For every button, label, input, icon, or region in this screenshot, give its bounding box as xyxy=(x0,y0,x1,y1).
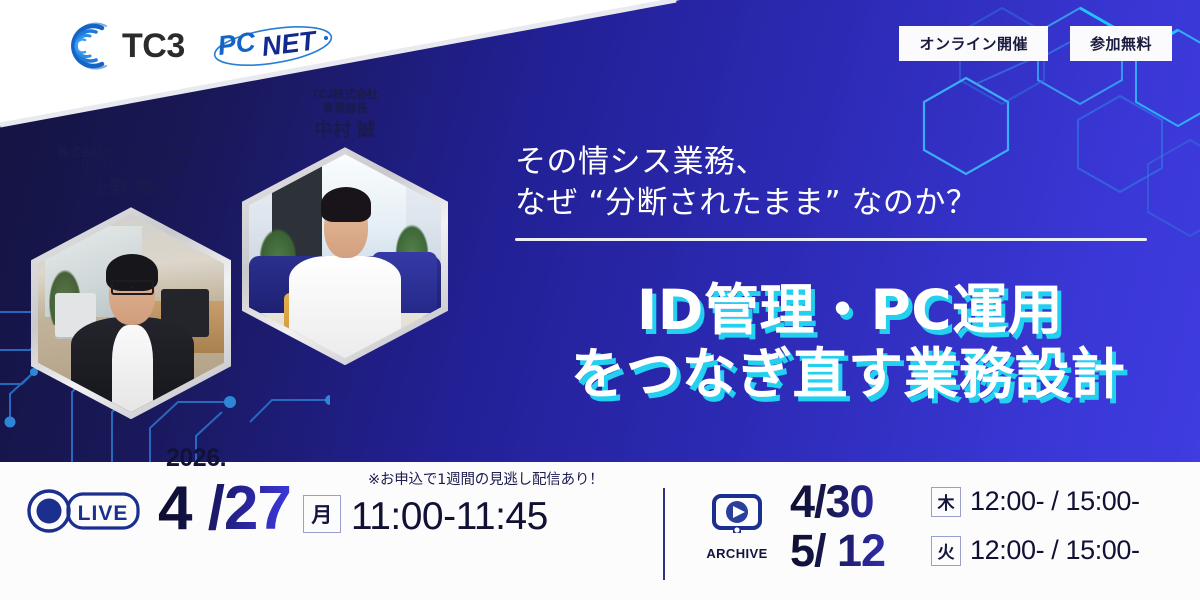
title-block: ID管理・PC運用 をつなぎ直す業務設計 xyxy=(508,278,1188,407)
tc3-logo: TC3 xyxy=(62,20,185,72)
badge-free: 参加無料 xyxy=(1070,26,1172,61)
archive-badge: ARCHIVE xyxy=(698,492,776,561)
headline-subtitle-line2: なぜ “分断されたまま” なのか？ xyxy=(515,183,1175,224)
speaker-ueno-name: 上野 翔斗 xyxy=(28,177,234,200)
logo-group: TC3 PC NET xyxy=(62,20,336,72)
archive-date-2: 5/ 12 xyxy=(790,527,922,574)
footer-divider xyxy=(663,488,665,580)
tc3-logo-text: TC3 xyxy=(122,27,185,66)
live-date: 4 /27 xyxy=(158,480,291,539)
speaker-ueno-department: ITソリューション部 xyxy=(28,160,234,174)
headline-block: その情シス業務、 なぜ “分断されたまま” なのか？ xyxy=(515,142,1175,241)
svg-text:PC: PC xyxy=(216,27,257,61)
svg-text:NET: NET xyxy=(260,25,320,62)
speaker-ueno-photo xyxy=(31,207,231,419)
pcnet-logo: PC NET xyxy=(211,22,336,70)
live-row: 4 /27 月 11:00-11:45 xyxy=(158,480,548,539)
speaker-ueno-labels: 株式会社パシフィックネット ITソリューション部 上野 翔斗 xyxy=(28,146,234,199)
speaker-nakamura-labels: TC3株式会社 事業部長 中村 誠 xyxy=(240,88,450,141)
archive-weekday-2: 火 xyxy=(931,536,961,566)
live-badge-icon: LIVE xyxy=(26,487,142,533)
archive-weekday-1: 木 xyxy=(931,487,961,517)
title-line-2: をつなぎ直す業務設計 xyxy=(508,342,1188,406)
live-year: 2026. xyxy=(166,444,226,473)
pcnet-logo-icon: PC NET xyxy=(211,22,336,70)
speaker-nakamura-department: 事業部長 xyxy=(240,102,450,116)
live-badge: LIVE xyxy=(26,487,142,533)
live-date-wrap: 2026. 4 /27 月 11:00-11:45 xyxy=(158,480,548,539)
speaker-nakamura-name: 中村 誠 xyxy=(240,119,450,142)
tc3-swirl-icon xyxy=(62,20,120,72)
archive-block: ARCHIVE 4/30 木 12:00- / 15:00- 5/ 12 火 1… xyxy=(698,478,1140,575)
svg-text:LIVE: LIVE xyxy=(78,502,129,525)
archive-date-1: 4/30 xyxy=(790,478,922,525)
archive-time-1: 12:00- / 15:00- xyxy=(970,486,1140,517)
speaker-nakamura: TC3株式会社 事業部長 中村 誠 xyxy=(240,88,450,365)
live-weekday: 月 xyxy=(303,495,341,533)
headline-divider xyxy=(515,238,1147,241)
speaker-ueno-company: 株式会社パシフィックネット xyxy=(28,146,234,160)
webinar-banner: TC3 PC NET オンライン開催 参加無料 株式会社パシフィックネット IT… xyxy=(0,0,1200,600)
badge-online: オンライン開催 xyxy=(899,26,1048,61)
archive-row: 4/30 木 12:00- / 15:00- xyxy=(790,478,1140,525)
live-block: LIVE 2026. 4 /27 月 11:00-11:45 xyxy=(26,480,548,539)
speaker-ueno: 株式会社パシフィックネット ITソリューション部 上野 翔斗 xyxy=(28,146,234,419)
speaker-nakamura-photo xyxy=(242,147,448,365)
headline-subtitle-line1: その情シス業務、 xyxy=(515,142,1175,183)
archive-rows: 4/30 木 12:00- / 15:00- 5/ 12 火 12:00- / … xyxy=(790,478,1140,575)
archive-label: ARCHIVE xyxy=(698,546,776,561)
speaker-nakamura-company: TC3株式会社 xyxy=(240,88,450,102)
archive-monitor-play-icon xyxy=(709,492,765,540)
live-time: 11:00-11:45 xyxy=(351,495,548,539)
badge-group: オンライン開催 参加無料 xyxy=(899,26,1172,61)
archive-time-2: 12:00- / 15:00- xyxy=(970,535,1140,566)
archive-row: 5/ 12 火 12:00- / 15:00- xyxy=(790,527,1140,574)
title-line-1: ID管理・PC運用 xyxy=(508,278,1188,342)
footer-bar: ※お申込で1週間の見逃し配信あり！ LIVE 2026. 4 /27 月 11:… xyxy=(0,462,1200,600)
